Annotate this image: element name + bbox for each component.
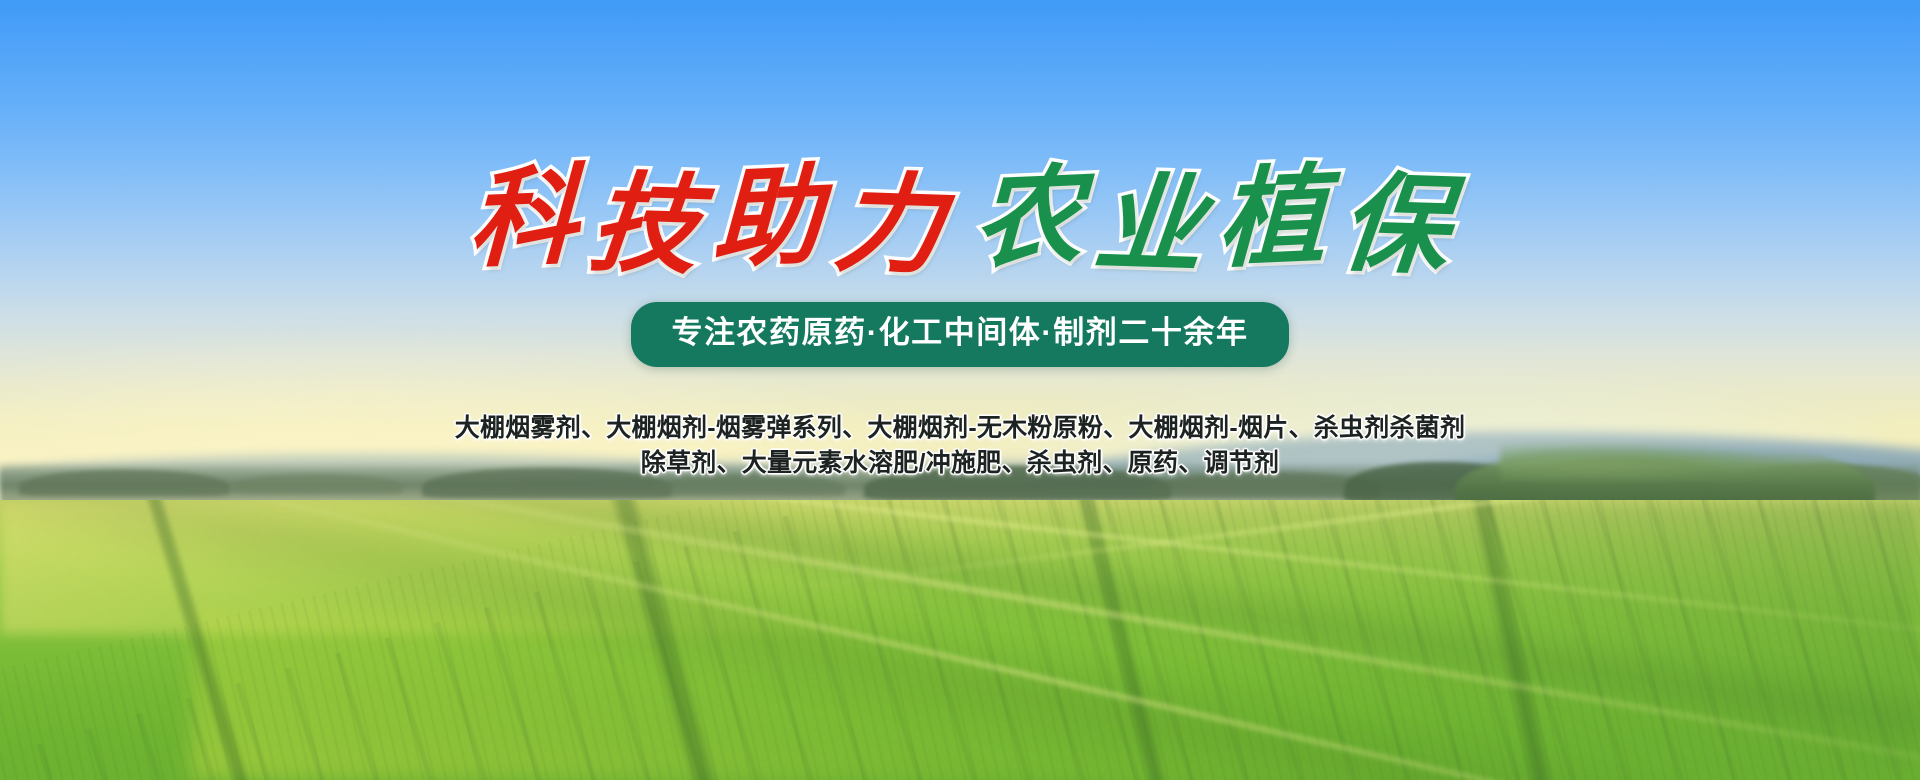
hero-banner: 科技助力 农业植保 专注农药原药·化工中间体·制剂二十余年 大棚烟雾剂、大棚烟剂… (0, 0, 1920, 780)
headline-glyph: 农 (973, 162, 1086, 275)
headline-glyph: 技 (586, 169, 707, 280)
tagline-text: 专注农药原药·化工中间体·制剂二十余年 (671, 315, 1248, 350)
product-list: 大棚烟雾剂、大棚烟剂-烟雾弹系列、大棚烟剂-无木粉原粉、大棚烟剂-烟片、杀虫剂杀… (455, 411, 1465, 482)
headline-glyph: 保 (1335, 169, 1456, 280)
product-line-2: 除草剂、大量元素水溶肥/冲施肥、杀虫剂、原药、调节剂 (455, 446, 1465, 482)
headline-glyph: 植 (1217, 162, 1330, 275)
headline: 科技助力 农业植保 (463, 168, 1456, 276)
headline-glyph: 业 (1091, 169, 1212, 280)
banner-content: 科技助力 农业植保 专注农药原药·化工中间体·制剂二十余年 大棚烟雾剂、大棚烟剂… (0, 0, 1920, 780)
product-line-1: 大棚烟雾剂、大棚烟剂-烟雾弹系列、大棚烟剂-无木粉原粉、大棚烟剂-烟片、杀虫剂杀… (455, 411, 1465, 447)
headline-glyph: 助 (712, 162, 825, 275)
headline-green-text: 农业植保 (964, 168, 1460, 276)
headline-glyph: 科 (468, 162, 581, 275)
headline-glyph: 力 (830, 169, 951, 280)
tagline-badge: 专注农药原药·化工中间体·制剂二十余年 (631, 302, 1288, 367)
headline-red-text: 科技助力 (460, 168, 956, 276)
